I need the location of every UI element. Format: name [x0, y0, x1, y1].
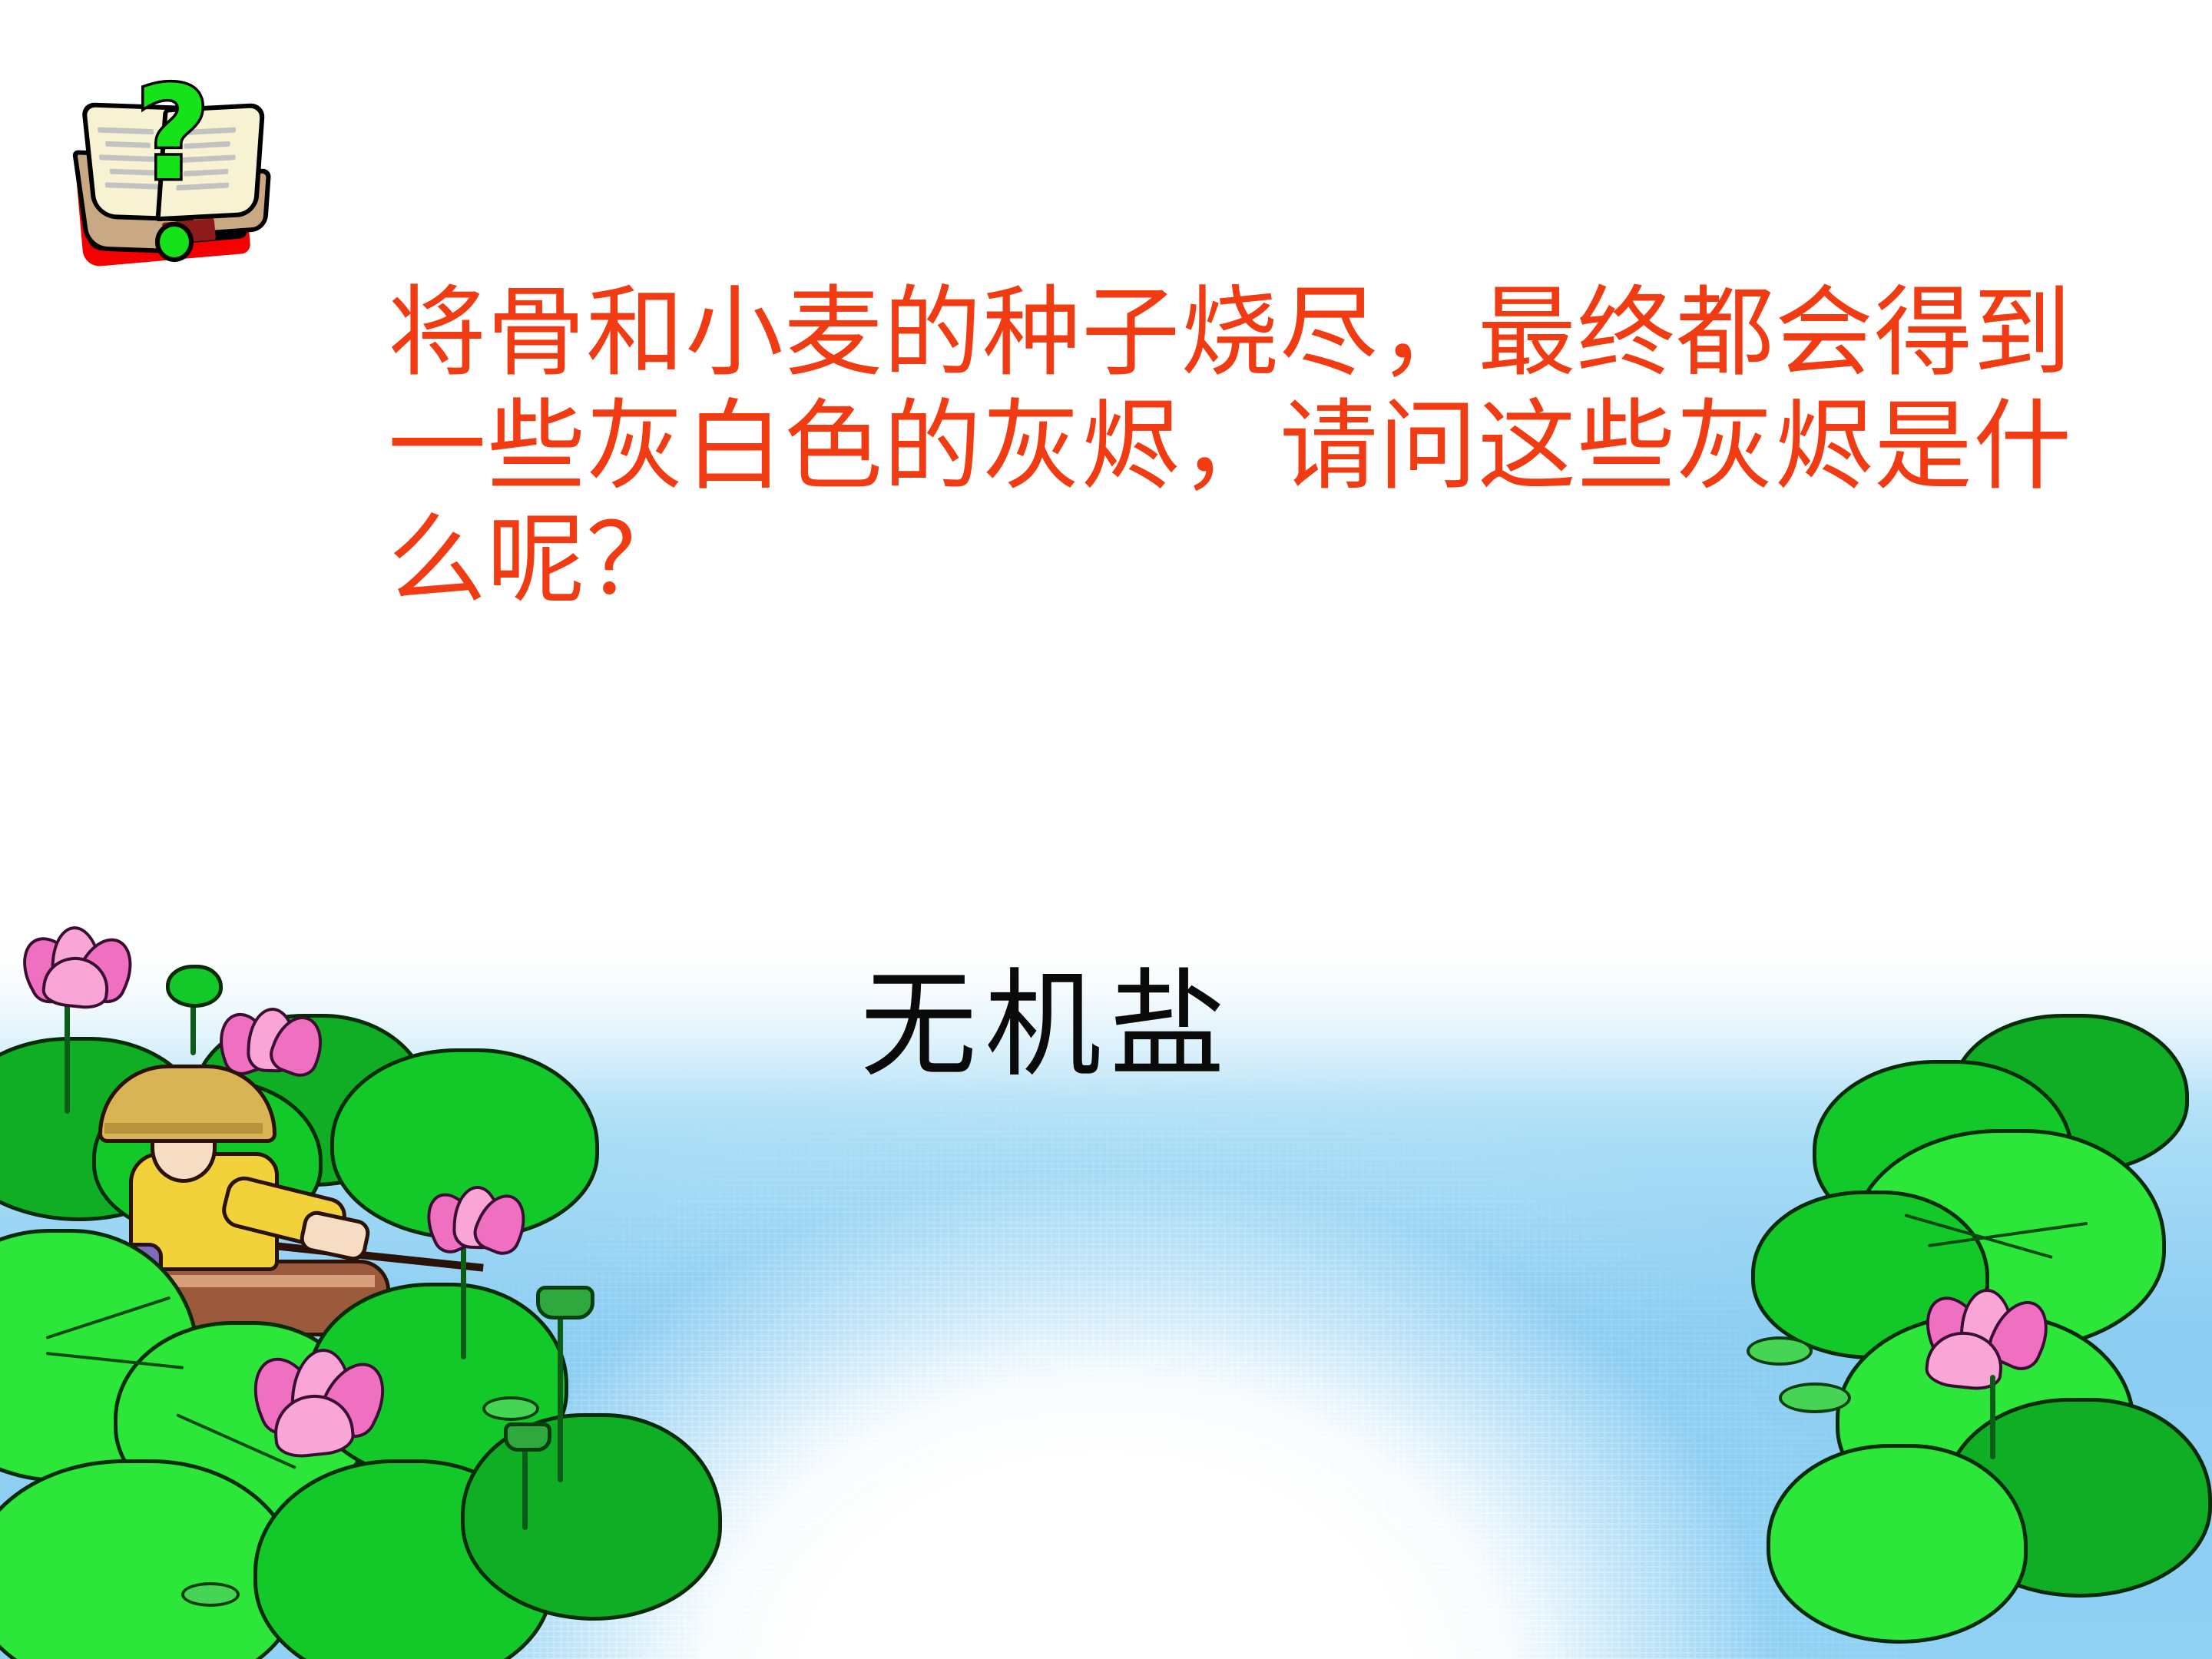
person-hand: [297, 1208, 372, 1263]
lotus-seedpod: [536, 1286, 594, 1320]
slide-canvas: ? 将骨和小麦的种子烧尽，最终都会得到 一些灰白色的灰烬，请问这些灰烬是什 么呢…: [0, 0, 2212, 1659]
question-text: 将骨和小麦的种子烧尽，最终都会得到 一些灰白色的灰烬，请问这些灰烬是什 么呢？: [388, 276, 2139, 618]
question-line-2: 一些灰白色的灰烬，请问这些灰烬是什: [388, 390, 2139, 504]
conical-hat-brim: [104, 1123, 263, 1134]
answer-text: 无机盐: [860, 964, 1233, 1087]
left-lotus-scene: [0, 922, 691, 1659]
question-mark-dot-icon: [155, 222, 194, 262]
question-line-1: 将骨和小麦的种子烧尽，最终都会得到: [388, 276, 2139, 390]
open-book-question-icon: ?: [69, 81, 261, 303]
right-lotus-scene: [1628, 1014, 2212, 1659]
question-mark-icon: ?: [135, 76, 206, 199]
lotus-seedpod: [504, 1422, 551, 1452]
question-line-3: 么呢？: [388, 504, 2139, 618]
